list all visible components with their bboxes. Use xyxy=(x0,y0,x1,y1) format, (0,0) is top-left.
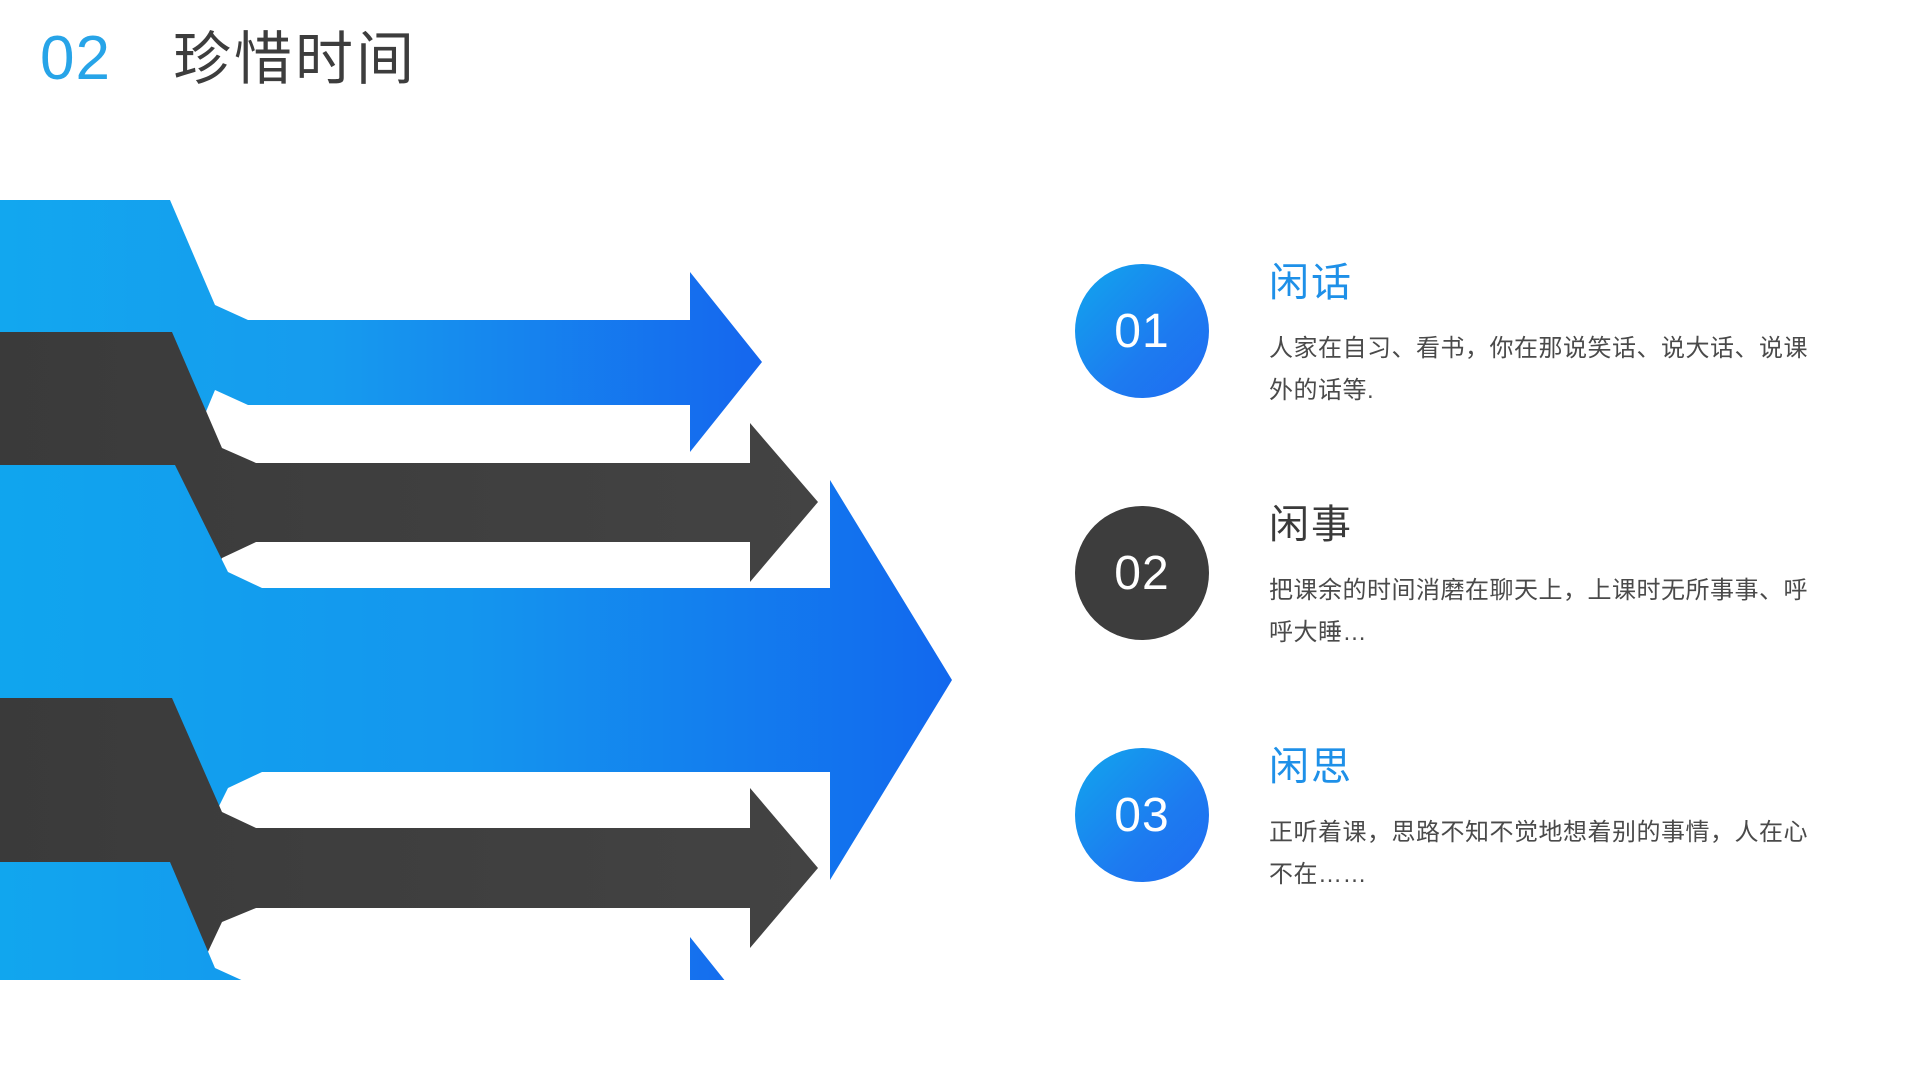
item-title: 闲思 xyxy=(1269,744,1829,790)
item-title: 闲事 xyxy=(1269,502,1829,548)
item-number: 02 xyxy=(1114,546,1169,601)
item-title: 闲话 xyxy=(1269,260,1829,306)
converging-arrows-graphic xyxy=(0,180,960,980)
page-number: 02 xyxy=(40,28,111,90)
item-badge-01: 01 xyxy=(1075,264,1209,398)
slide-header: 02 珍惜时间 xyxy=(40,28,417,90)
item-badge-03: 03 xyxy=(1075,748,1209,882)
content-list: 01 闲话 人家在自习、看书，你在那说笑话、说大话、说课外的话等. 02 闲事 … xyxy=(1075,258,1875,896)
item-badge-02: 02 xyxy=(1075,506,1209,640)
item-text-block: 闲思 正听着课，思路不知不觉地想着别的事情，人在心不在…… xyxy=(1269,742,1829,896)
item-number: 01 xyxy=(1114,304,1169,359)
item-description: 人家在自习、看书，你在那说笑话、说大话、说课外的话等. xyxy=(1269,328,1829,412)
item-description: 把课余的时间消磨在聊天上，上课时无所事事、呼呼大睡… xyxy=(1269,570,1829,654)
list-item[interactable]: 02 闲事 把课余的时间消磨在聊天上，上课时无所事事、呼呼大睡… xyxy=(1075,500,1875,654)
list-item[interactable]: 03 闲思 正听着课，思路不知不觉地想着别的事情，人在心不在…… xyxy=(1075,742,1875,896)
item-text-block: 闲事 把课余的时间消磨在聊天上，上课时无所事事、呼呼大睡… xyxy=(1269,500,1829,654)
item-text-block: 闲话 人家在自习、看书，你在那说笑话、说大话、说课外的话等. xyxy=(1269,258,1829,412)
page-title: 珍惜时间 xyxy=(173,31,417,89)
item-description: 正听着课，思路不知不觉地想着别的事情，人在心不在…… xyxy=(1269,812,1829,896)
item-number: 03 xyxy=(1114,788,1169,843)
list-item[interactable]: 01 闲话 人家在自习、看书，你在那说笑话、说大话、说课外的话等. xyxy=(1075,258,1875,412)
